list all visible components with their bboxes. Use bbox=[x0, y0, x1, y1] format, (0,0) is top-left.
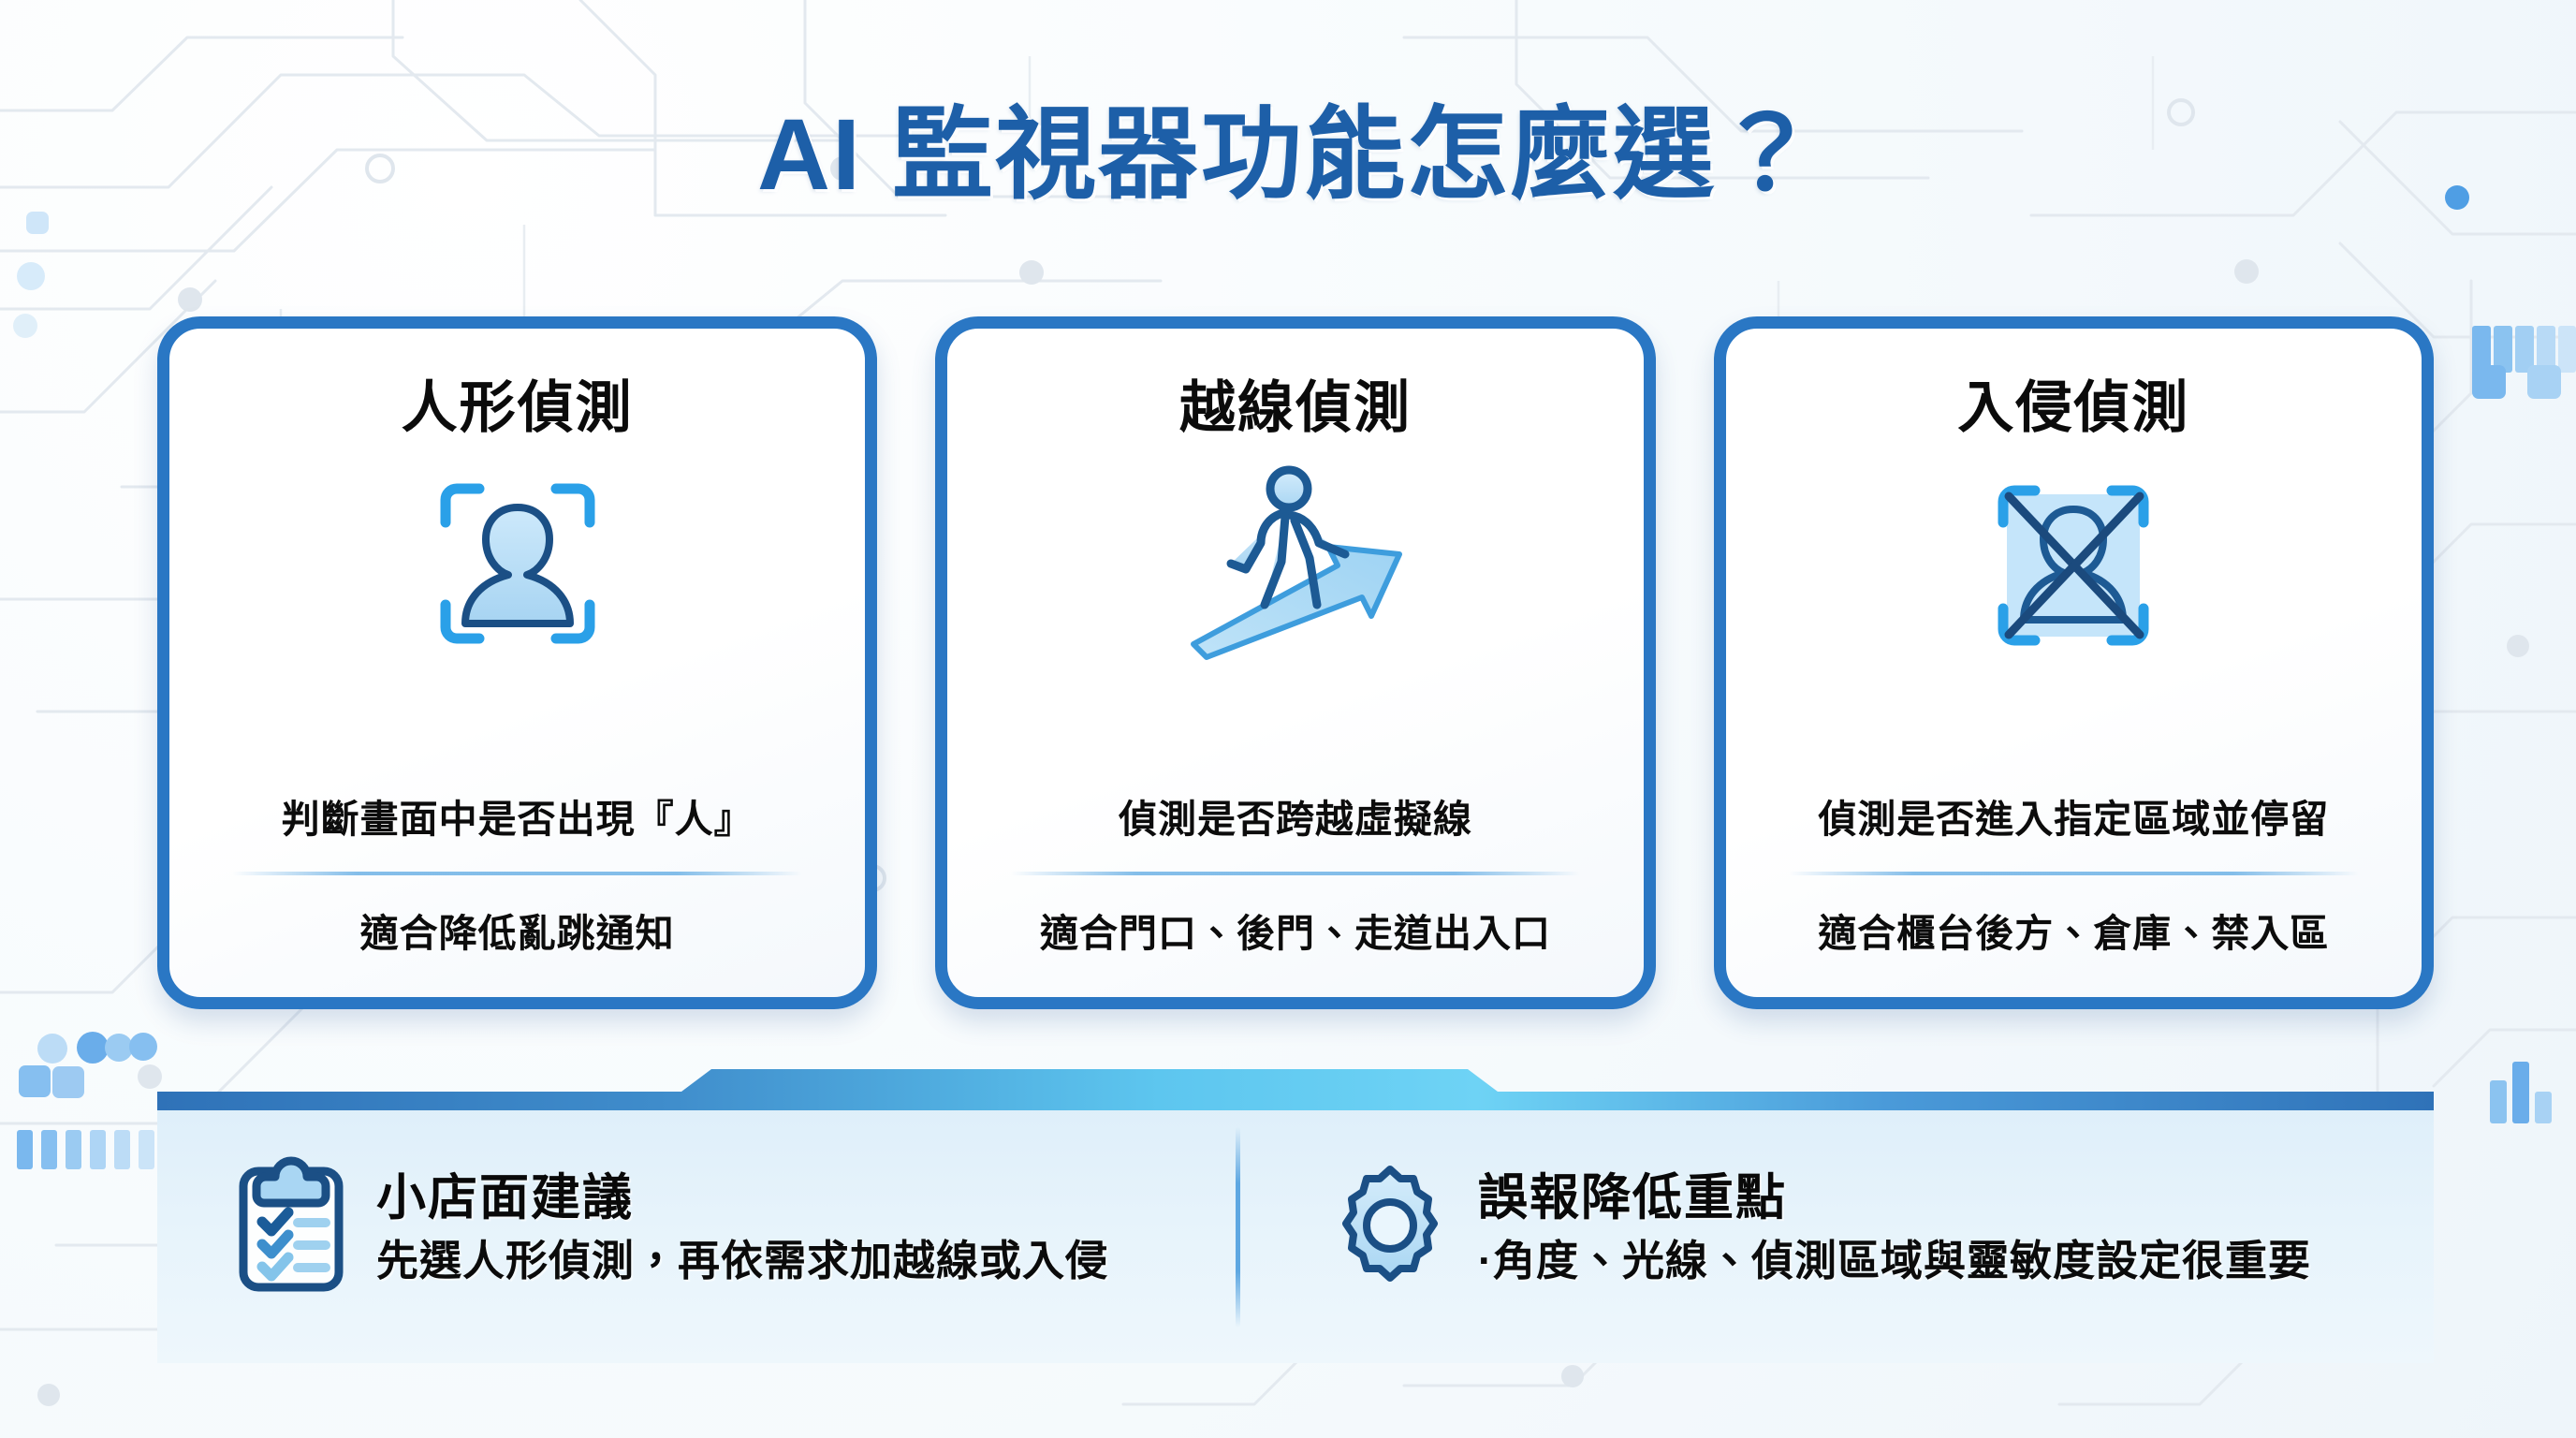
deco-bar bbox=[2472, 326, 2491, 373]
footer-block-false-alarm: 誤報降低重點 ·角度、光線、偵測區域與靈敏度設定很重要 bbox=[1244, 1092, 2391, 1363]
running-person-crossing-line-icon bbox=[1178, 464, 1412, 661]
footer-block-small-shop: 小店面建議 先選人形偵測，再依需求加越線或入侵 bbox=[200, 1092, 1244, 1363]
deco-bar bbox=[114, 1130, 130, 1169]
deco-bar bbox=[66, 1130, 81, 1169]
deco-bar bbox=[139, 1130, 154, 1169]
card-divider bbox=[1011, 872, 1580, 875]
deco-chip bbox=[2527, 365, 2561, 399]
deco-bar bbox=[2537, 326, 2555, 373]
deco-bar bbox=[2515, 326, 2534, 373]
deco-bar bbox=[41, 1130, 57, 1169]
card-divider bbox=[1789, 872, 2358, 875]
deco-bar bbox=[17, 1130, 33, 1169]
feature-card-line-crossing[interactable]: 越線偵測 bbox=[935, 316, 1655, 1009]
title-area: AI 監視器功能怎麼選？ bbox=[0, 73, 2576, 219]
footer-subtext-right: ·角度、光線、偵測區域與靈敏度設定很重要 bbox=[1478, 1237, 2311, 1285]
card-use-case: 適合櫃台後方、倉庫、禁入區 bbox=[1818, 902, 2329, 958]
deco-bar bbox=[2558, 326, 2576, 373]
deco-dot bbox=[129, 1033, 157, 1061]
deco-chip bbox=[19, 1065, 51, 1097]
gear-icon bbox=[1330, 1166, 1450, 1290]
footer-bar: 小店面建議 先選人形偵測，再依需求加越線或入侵 誤報降低重點 bbox=[157, 1092, 2434, 1363]
deco-dot bbox=[37, 1034, 67, 1064]
footer-heading-left: 小店面建議 bbox=[376, 1170, 1108, 1227]
card-description: 判斷畫面中是否出現『人』 bbox=[282, 787, 754, 844]
deco-bar bbox=[2494, 326, 2512, 373]
footer-heading-right: 誤報降低重點 bbox=[1478, 1170, 2311, 1227]
person-in-restricted-zone-icon bbox=[1966, 464, 2181, 661]
deco-dot bbox=[13, 314, 37, 338]
page-title: AI 監視器功能怎麼選？ bbox=[0, 73, 2576, 219]
card-title: 入侵偵測 bbox=[1957, 362, 2189, 444]
deco-chip bbox=[52, 1066, 84, 1098]
person-in-frame-icon bbox=[410, 464, 625, 661]
feature-card-human-detection[interactable]: 人形偵測 判斷畫面中是否出現『人』 適 bbox=[157, 316, 877, 1009]
feature-card-list: 人形偵測 判斷畫面中是否出現『人』 適 bbox=[157, 316, 2434, 1009]
deco-bar bbox=[2512, 1062, 2529, 1123]
deco-dot bbox=[17, 262, 45, 290]
deco-bar bbox=[2490, 1080, 2507, 1123]
card-description: 偵測是否進入指定區域並停留 bbox=[1818, 787, 2329, 844]
footer-subtext-left: 先選人形偵測，再依需求加越線或入侵 bbox=[376, 1237, 1108, 1285]
deco-bar bbox=[90, 1130, 106, 1169]
card-divider bbox=[232, 872, 801, 875]
card-use-case: 適合降低亂跳通知 bbox=[360, 902, 675, 958]
card-use-case: 適合門口、後門、走道出入口 bbox=[1040, 902, 1551, 958]
clipboard-checklist-icon bbox=[234, 1156, 348, 1299]
deco-dot bbox=[105, 1034, 133, 1062]
deco-bar bbox=[2535, 1092, 2552, 1123]
feature-card-intrusion-detection[interactable]: 入侵偵測 偵測是否進入指定區域並停留 適合櫃台 bbox=[1714, 316, 2434, 1009]
deco-dot bbox=[77, 1032, 109, 1064]
deco-chip bbox=[2472, 365, 2506, 399]
card-title: 人形偵測 bbox=[402, 362, 634, 444]
card-title: 越線偵測 bbox=[1179, 362, 1412, 444]
card-description: 偵測是否跨越虛擬線 bbox=[1119, 787, 1472, 844]
